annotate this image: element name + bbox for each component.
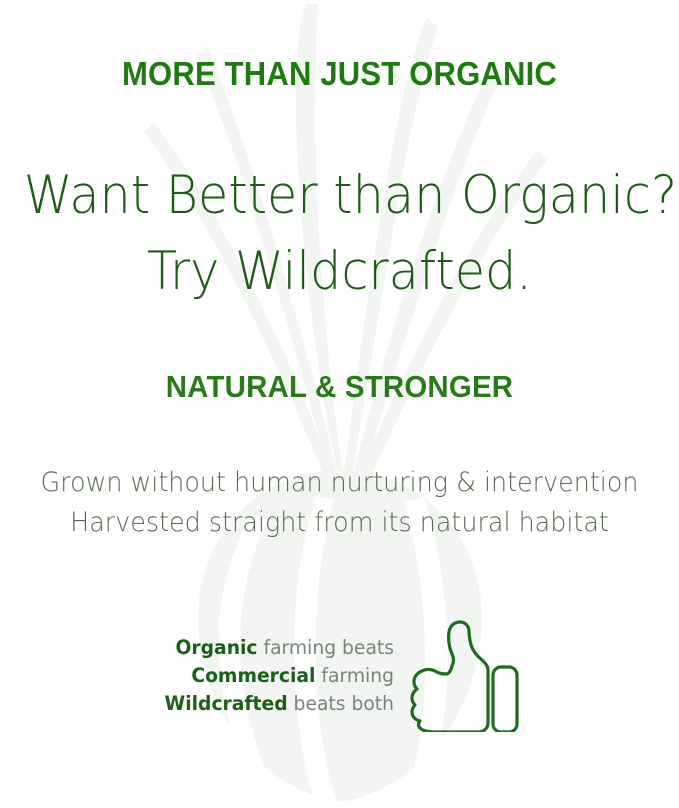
claim-keyword-wildcrafted: Wildcrafted [165, 692, 288, 715]
thumbs-up-icon [404, 620, 524, 732]
claim-keyword-organic: Organic [175, 636, 257, 659]
claim-line-2: Commercial farming [165, 662, 394, 690]
body-copy: Grown without human nurturing & interven… [0, 463, 679, 543]
eyebrow-heading: MORE THAN JUST ORGANIC [20, 57, 658, 90]
headline-line-2: Try Wildcrafted. [24, 234, 655, 310]
claim-line-1: Organic farming beats [165, 634, 394, 662]
subheading: NATURAL & STRONGER [17, 371, 662, 402]
poster-canvas: MORE THAN JUST ORGANIC Want Better than … [0, 0, 679, 808]
claim-rest-2: farming [315, 664, 394, 687]
body-line-1: Grown without human nurturing & interven… [20, 463, 658, 503]
page-title: Want Better than Organic? Try Wildcrafte… [0, 158, 679, 310]
claim-line-3: Wildcrafted beats both [165, 690, 394, 718]
claim-keyword-commercial: Commercial [191, 664, 315, 687]
claim-rest-1: farming beats [258, 636, 394, 659]
claim-block: Organic farming beats Commercial farming… [0, 618, 679, 733]
body-line-2: Harvested straight from its natural habi… [20, 503, 658, 543]
claim-rest-3: beats both [288, 692, 394, 715]
claim-text: Organic farming beats Commercial farming… [155, 634, 404, 718]
headline-line-1: Want Better than Organic? [24, 158, 655, 234]
poster-content: MORE THAN JUST ORGANIC Want Better than … [0, 0, 679, 808]
